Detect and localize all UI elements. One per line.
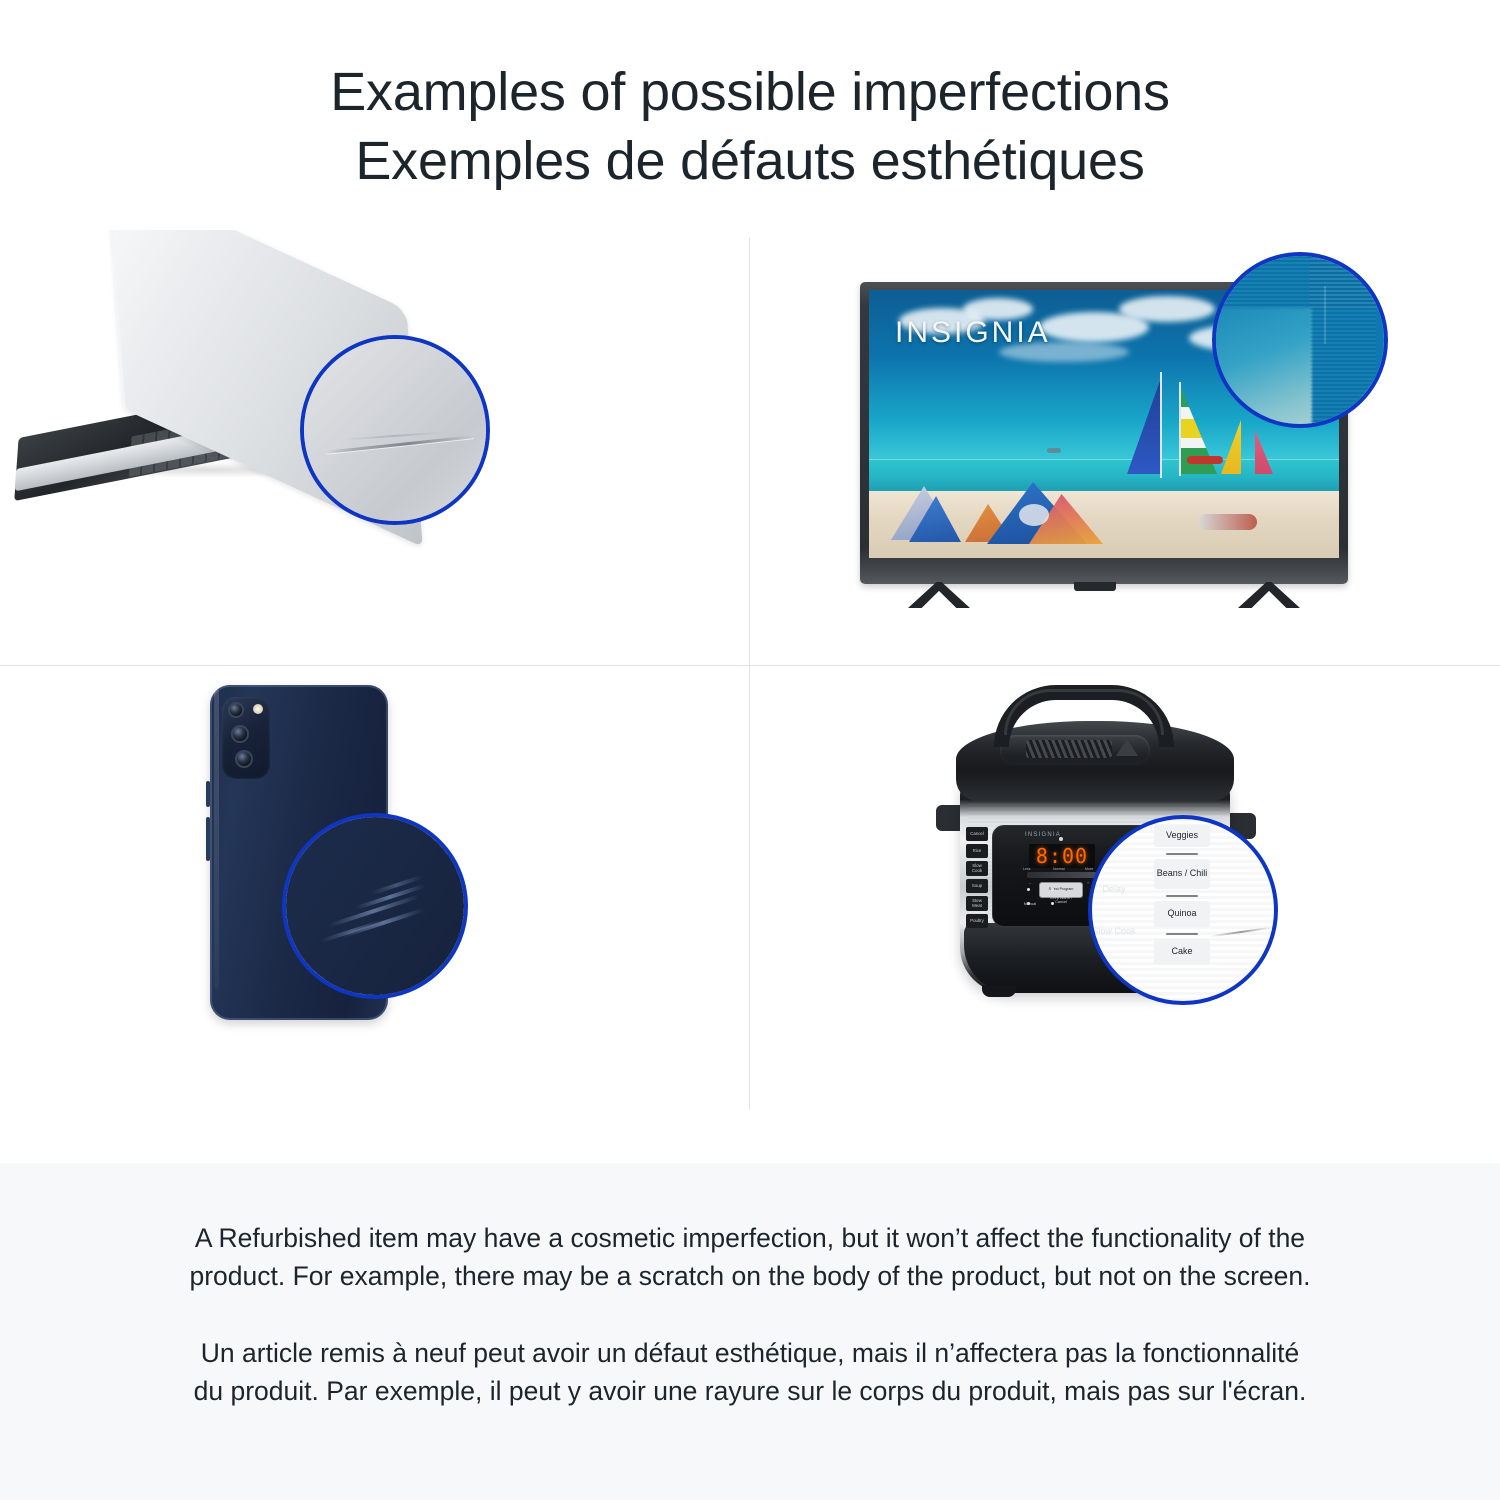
cooker-magnified-button-quinoa: Quinoa <box>1154 901 1210 927</box>
cooker-led-indicator <box>1027 888 1030 891</box>
camera-lens-icon <box>235 750 253 768</box>
cooker-brand-label: INSIGNIA <box>1025 832 1061 838</box>
camera-lens-icon <box>231 725 249 743</box>
cooker-lcd-value: 8:00 <box>1036 844 1088 868</box>
tv-scene-beach-item <box>1199 514 1257 530</box>
laptop-scratch-magnifier <box>300 335 490 525</box>
grid-horizontal-divider <box>0 665 1500 666</box>
tv-magnifier-bezel-top <box>1212 252 1378 308</box>
cooker-magnified-separator <box>1166 933 1198 935</box>
camera-flash-icon <box>253 704 263 714</box>
cooker-magnified-button-veggies: Veggies <box>1154 825 1210 847</box>
tv-scene-hull <box>1187 456 1223 464</box>
tv-scene-mast <box>1160 372 1162 478</box>
cooker-magnified-separator <box>1166 853 1198 855</box>
disclaimer-text-fr: Un article remis à neuf peut avoir un dé… <box>185 1334 1315 1411</box>
example-cell-tv: INSIGNIA <box>750 230 1500 665</box>
cooker-magnified-label-delay: Delay <box>1094 881 1134 899</box>
camera-lens-icon <box>228 702 244 718</box>
cooker-foot-left <box>982 985 1016 997</box>
cooker-button-slow-cook[interactable]: Slow Cook <box>966 861 988 876</box>
tv-screen-brand-logo: INSIGNIA <box>895 316 1051 350</box>
footer-disclaimer: A Refurbished item may have a cosmetic i… <box>0 1163 1500 1500</box>
cooker-left-button-column[interactable]: Cancel Rice Slow Cook Soup Stew Meat Pou… <box>966 827 988 928</box>
cooker-handle-highlight <box>1004 689 1164 735</box>
cooker-pressure-slider[interactable] <box>1027 872 1097 878</box>
cooker-button-stew-meat[interactable]: Stew Meat <box>966 896 988 911</box>
cooker-scratch-magnifier: Veggies Beans / Chili Quinoa Cake Delay … <box>1088 815 1278 1005</box>
cooker-slider-label-less: Less <box>1023 867 1031 871</box>
tv-magnifier-screen-area <box>1212 308 1312 428</box>
cooker-label-keep-warm[interactable]: Keep Warm / Cancel <box>1045 896 1077 904</box>
phone-scratch-2 <box>341 908 424 938</box>
tv-scene-kite-detail <box>1019 504 1049 526</box>
cooker-slider-label-normal: Normal <box>1053 867 1065 871</box>
cooker-magnified-separator <box>1166 895 1198 897</box>
tv-logo-nub <box>1074 582 1116 591</box>
tv-bezel-scuff <box>1324 286 1326 344</box>
cooker-lcd-display: 8:00 <box>1029 844 1095 868</box>
tv-bezel-magnifier <box>1212 252 1388 428</box>
page-title-en: Examples of possible imperfections <box>0 58 1500 127</box>
cooker-status-led <box>1059 837 1063 841</box>
page-header: Examples of possible imperfections Exemp… <box>0 0 1500 230</box>
phone-highlight <box>214 689 219 989</box>
phone-scratch-magnifier <box>282 813 468 999</box>
phone-volume-button <box>206 781 210 807</box>
tv-magnifier-surface <box>1216 256 1384 424</box>
page-title-fr: Exemples de défauts esthétiques <box>0 127 1500 196</box>
cooker-label-manual[interactable]: Manual <box>1019 902 1041 906</box>
cooker-magnified-button-beans-chili: Beans / Chili <box>1154 859 1210 889</box>
cooker-button-cancel[interactable]: Cancel <box>966 827 988 841</box>
tv-illustration: INSIGNIA <box>860 252 1400 642</box>
laptop-illustration <box>10 240 530 540</box>
tv-scene-mast <box>1179 382 1181 476</box>
tv-scene-distant-boat <box>1047 448 1061 453</box>
cooker-minus-icon[interactable]: – <box>1029 881 1031 885</box>
examples-grid: INSIGNIA <box>0 230 1500 1110</box>
cooker-body-scratch <box>1210 927 1272 938</box>
phone-magnifier-surface <box>286 817 464 995</box>
cooker-led-indicator <box>1051 888 1054 891</box>
phone-illustration <box>170 685 570 1085</box>
example-cell-phone <box>0 667 748 1110</box>
cooker-button-poultry[interactable]: Poultry <box>966 914 988 928</box>
example-cell-pressure-cooker: INSIGNIA 8:00 Less Normal More Select Pr… <box>750 667 1500 1110</box>
cooker-plus-icon[interactable]: + <box>1087 881 1089 885</box>
tv-stand-foot-left <box>908 582 970 608</box>
cooker-magnified-button-cake: Cake <box>1154 939 1210 965</box>
disclaimer-text-en: A Refurbished item may have a cosmetic i… <box>185 1219 1315 1296</box>
pressure-cooker-illustration: INSIGNIA 8:00 Less Normal More Select Pr… <box>930 677 1350 1077</box>
tv-scene-cloud <box>1119 296 1215 322</box>
laptop-magnifier-surface <box>304 339 486 521</box>
tv-scene-horizon <box>869 459 1339 460</box>
cooker-button-rice[interactable]: Rice <box>966 844 988 858</box>
example-cell-laptop <box>0 230 748 665</box>
refurbished-imperfections-infographic: Examples of possible imperfections Exemp… <box>0 0 1500 1500</box>
tv-stand-foot-right <box>1238 582 1300 608</box>
cooker-button-soup[interactable]: Soup <box>966 879 988 893</box>
cooker-magnified-label-slow-cook: Slow Cook <box>1090 923 1138 941</box>
phone-power-button <box>206 817 210 861</box>
phone-camera-module <box>222 697 270 779</box>
cooker-magnifier-surface: Veggies Beans / Chili Quinoa Cake Delay … <box>1092 819 1274 1001</box>
